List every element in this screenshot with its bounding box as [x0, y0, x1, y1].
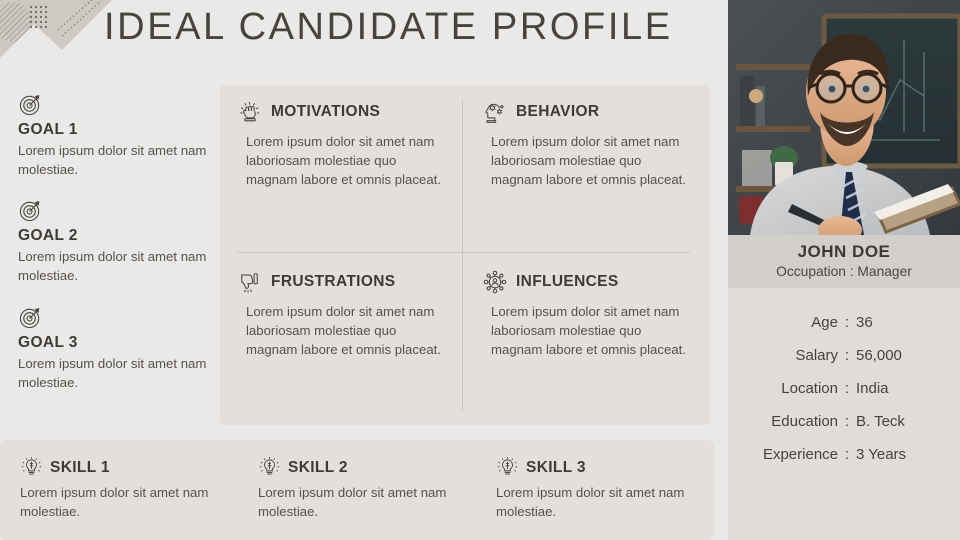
skill-description: Lorem ipsum dolor sit amet nam molestiae… — [20, 484, 224, 521]
profile-fact-row: Education : B. Teck — [728, 413, 960, 430]
page-title: IDEAL CANDIDATE PROFILE — [104, 6, 673, 49]
fact-colon: : — [838, 314, 856, 331]
profile-name: JOHN DOE — [734, 242, 954, 262]
skill-description: Lorem ipsum dolor sit amet nam molestiae… — [258, 484, 462, 521]
quadrant-title: INFLUENCES — [516, 273, 619, 291]
profile-panel: JOHN DOE Occupation : Manager Age : 36 S… — [728, 0, 960, 540]
goal-item: GOAL 2 Lorem ipsum dolor sit amet nam mo… — [18, 198, 214, 285]
fact-label: Location — [728, 380, 838, 397]
goal-description: Lorem ipsum dolor sit amet nam molestiae… — [18, 248, 214, 285]
profile-name-band: JOHN DOE Occupation : Manager — [728, 235, 960, 288]
fact-value: 3 Years — [856, 446, 960, 463]
quadrant-description: Lorem ipsum dolor sit amet nam laboriosa… — [237, 132, 447, 189]
fact-label: Age — [728, 314, 838, 331]
slide-canvas: IDEAL CANDIDATE PROFILE GOAL 1 Lorem ips… — [0, 0, 960, 540]
profile-fact-row: Location : India — [728, 380, 960, 397]
profile-fact-row: Salary : 56,000 — [728, 347, 960, 364]
goal-description: Lorem ipsum dolor sit amet nam molestiae… — [18, 142, 214, 179]
fact-colon: : — [838, 413, 856, 430]
fact-value: 36 — [856, 314, 960, 331]
quadrant-behavior: BEHAVIOR Lorem ipsum dolor sit amet nam … — [465, 85, 710, 255]
goal-item: GOAL 1 Lorem ipsum dolor sit amet nam mo… — [18, 92, 214, 179]
skill-item: SKILL 2 Lorem ipsum dolor sit amet nam m… — [238, 440, 476, 540]
profile-photo — [728, 0, 960, 235]
goal-title: GOAL 3 — [18, 334, 214, 352]
fact-label: Salary — [728, 347, 838, 364]
fact-label: Education — [728, 413, 838, 430]
profile-facts-list: Age : 36 Salary : 56,000 Location : Indi… — [728, 288, 960, 463]
profile-fact-row: Age : 36 — [728, 314, 960, 331]
fact-value: B. Teck — [856, 413, 960, 430]
fact-colon: : — [838, 380, 856, 397]
skills-panel: SKILL 1 Lorem ipsum dolor sit amet nam m… — [0, 440, 714, 540]
fact-value: India — [856, 380, 960, 397]
profile-occupation: Occupation : Manager — [734, 264, 954, 279]
lightbulb-brain-icon — [496, 456, 519, 479]
fact-colon: : — [838, 347, 856, 364]
lightbulb-brain-icon — [258, 456, 281, 479]
fact-label: Experience — [728, 446, 838, 463]
goal-title: GOAL 2 — [18, 227, 214, 245]
corner-decoration-svg — [0, 0, 112, 72]
fact-value: 56,000 — [856, 347, 960, 364]
target-icon — [18, 198, 43, 223]
profile-photo-illustration — [728, 0, 960, 235]
goal-title: GOAL 1 — [18, 121, 214, 139]
lightbulb-brain-icon — [20, 456, 43, 479]
corner-decoration — [0, 0, 112, 72]
goals-column: GOAL 1 Lorem ipsum dolor sit amet nam mo… — [18, 92, 214, 392]
quadrant-description: Lorem ipsum dolor sit amet nam laboriosa… — [237, 302, 447, 359]
network-person-icon — [482, 269, 508, 295]
target-icon — [18, 305, 43, 330]
quadrant-title: BEHAVIOR — [516, 103, 599, 121]
persona-quadrant-panel: MOTIVATIONS Lorem ipsum dolor sit amet n… — [220, 85, 710, 425]
thumbs-down-icon — [237, 269, 263, 295]
skill-description: Lorem ipsum dolor sit amet nam molestiae… — [496, 484, 700, 521]
quadrant-influences: INFLUENCES Lorem ipsum dolor sit amet na… — [465, 255, 710, 425]
skill-title: SKILL 2 — [288, 459, 348, 477]
quadrant-description: Lorem ipsum dolor sit amet nam laboriosa… — [482, 302, 692, 359]
quadrant-frustrations: FRUSTRATIONS Lorem ipsum dolor sit amet … — [220, 255, 465, 425]
skill-item: SKILL 1 Lorem ipsum dolor sit amet nam m… — [0, 440, 238, 540]
quadrant-description: Lorem ipsum dolor sit amet nam laboriosa… — [482, 132, 692, 189]
fact-colon: : — [838, 446, 856, 463]
skill-title: SKILL 3 — [526, 459, 586, 477]
target-icon — [18, 92, 43, 117]
goal-description: Lorem ipsum dolor sit amet nam molestiae… — [18, 355, 214, 392]
quadrant-title: FRUSTRATIONS — [271, 273, 395, 291]
profile-fact-row: Experience : 3 Years — [728, 446, 960, 463]
skill-item: SKILL 3 Lorem ipsum dolor sit amet nam m… — [476, 440, 714, 540]
head-gears-icon — [482, 99, 508, 125]
goal-item: GOAL 3 Lorem ipsum dolor sit amet nam mo… — [18, 305, 214, 392]
quadrant-motivations: MOTIVATIONS Lorem ipsum dolor sit amet n… — [220, 85, 465, 255]
quadrant-title: MOTIVATIONS — [271, 103, 380, 121]
raised-fist-icon — [237, 99, 263, 125]
skill-title: SKILL 1 — [50, 459, 110, 477]
